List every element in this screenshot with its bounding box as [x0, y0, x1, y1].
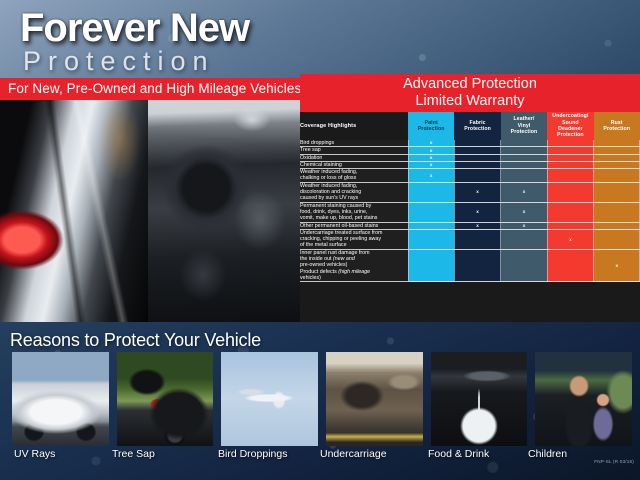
cell-undercoating-sound-deadener-protection: [547, 202, 593, 222]
cell-fabric-protection: x: [454, 222, 500, 229]
cell-paint-protection: x: [408, 147, 454, 154]
row-label: Weather induced fading,discoloration and…: [300, 182, 408, 202]
masthead: Forever New Protection: [0, 0, 640, 78]
cell-undercoating-sound-deadener-protection: [547, 154, 593, 161]
coverage-header-row: Coverage Highlights PaintProtectionFabri…: [300, 112, 640, 140]
cell-rust-protection: x: [594, 249, 640, 281]
cell-fabric-protection: [454, 229, 500, 249]
hero-photo-strip: [0, 100, 300, 322]
cell-fabric-protection: [454, 154, 500, 161]
col-header-undercoating-sound-deadener-protection: Undercoating/SoundDeadenerProtection: [547, 112, 593, 140]
cell-leather-vinyl-protection: [501, 161, 547, 168]
cell-undercoating-sound-deadener-protection: [547, 222, 593, 229]
row-label: Inner panel rust damage fromthe inside o…: [300, 249, 408, 281]
coverage-table: Coverage Highlights PaintProtectionFabri…: [300, 112, 640, 282]
check-mark: x: [430, 156, 433, 161]
row-label: Oxidation: [300, 154, 408, 161]
photo-car-interior: [148, 100, 300, 322]
check-mark: x: [430, 141, 433, 146]
cell-leather-vinyl-protection: [501, 147, 547, 154]
coverage-table-container: Coverage Highlights PaintProtectionFabri…: [300, 112, 640, 322]
cell-leather-vinyl-protection: x: [501, 182, 547, 202]
row-label: Weather induced fading,chalking or loss …: [300, 169, 408, 183]
check-mark: x: [523, 190, 526, 195]
check-mark: x: [430, 149, 433, 154]
row-label: Undercarriage treated surface fromcracki…: [300, 229, 408, 249]
col-header-coverage-highlights: Coverage Highlights: [300, 112, 408, 140]
cell-undercoating-sound-deadener-protection: [547, 140, 593, 147]
cell-leather-vinyl-protection: [501, 154, 547, 161]
col-header-leather-vinyl-protection: Leather/VinylProtection: [501, 112, 547, 140]
cell-undercoating-sound-deadener-protection: [547, 161, 593, 168]
table-row: Other permanent oil-based stains xx x: [300, 222, 640, 229]
cell-paint-protection: x: [408, 154, 454, 161]
check-mark: x: [569, 238, 572, 243]
cell-fabric-protection: x: [454, 182, 500, 202]
tagline-text: For New, Pre-Owned and High Mileage Vehi…: [8, 81, 301, 96]
cell-fabric-protection: [454, 140, 500, 147]
thumb-bird-droppings: [221, 352, 318, 446]
thumb-uv-rays-caption: UV Rays: [14, 448, 55, 460]
brand-subtitle: Protection: [23, 46, 249, 76]
cell-fabric-protection: [454, 147, 500, 154]
cell-undercoating-sound-deadener-protection: [547, 147, 593, 154]
cell-leather-vinyl-protection: [501, 229, 547, 249]
row-label: Tree sap: [300, 147, 408, 154]
cell-leather-vinyl-protection: [501, 140, 547, 147]
cell-undercoating-sound-deadener-protection: [547, 249, 593, 281]
reasons-title: Reasons to Protect Your Vehicle: [10, 330, 261, 351]
cell-paint-protection: [408, 202, 454, 222]
table-row: Weather induced fading,discoloration and…: [300, 182, 640, 202]
table-row: Permanent staining caused byfood, drink,…: [300, 202, 640, 222]
cell-leather-vinyl-protection: x: [501, 222, 547, 229]
reasons-thumbnail-row: [12, 352, 632, 446]
table-row: Tree sapx x: [300, 147, 640, 154]
check-mark: x: [476, 224, 479, 229]
cell-leather-vinyl-protection: [501, 169, 547, 183]
thumb-food-drink: [431, 352, 528, 446]
cell-leather-vinyl-protection: x: [501, 202, 547, 222]
cell-rust-protection: [594, 169, 640, 183]
row-label: Chemical staining: [300, 161, 408, 168]
row-label: Bird droppings: [300, 140, 408, 147]
cell-undercoating-sound-deadener-protection: [547, 182, 593, 202]
cell-paint-protection: [408, 182, 454, 202]
thumb-bird-droppings-caption: Bird Droppings: [218, 448, 287, 460]
col-header-fabric-protection: FabricProtection: [454, 112, 500, 140]
thumb-uv-rays: [12, 352, 109, 446]
warranty-title: Advanced Protection Limited Warranty: [300, 76, 640, 109]
table-row: Chemical stainingx x: [300, 161, 640, 168]
table-row: Bird droppingsx x: [300, 140, 640, 147]
cell-undercoating-sound-deadener-protection: x: [547, 229, 593, 249]
brand-lockup: Forever New Protection: [20, 8, 249, 76]
thumb-undercarriage: [326, 352, 423, 446]
cell-rust-protection: [594, 140, 640, 147]
col-header-rust-protection: RustProtection: [594, 112, 640, 140]
table-row: Weather induced fading,chalking or loss …: [300, 169, 640, 183]
row-label: Other permanent oil-based stains: [300, 222, 408, 229]
cell-leather-vinyl-protection: [501, 249, 547, 281]
check-mark: x: [615, 264, 618, 269]
thumb-food-drink-caption: Food & Drink: [428, 448, 489, 460]
cell-fabric-protection: [454, 169, 500, 183]
check-mark: x: [430, 163, 433, 168]
check-mark: x: [476, 210, 479, 215]
cell-paint-protection: [408, 222, 454, 229]
thumb-tree-sap: [117, 352, 214, 446]
table-row: Inner panel rust damage fromthe inside o…: [300, 249, 640, 281]
cell-rust-protection: [594, 229, 640, 249]
table-row: Oxidationx x: [300, 154, 640, 161]
cell-fabric-protection: x: [454, 202, 500, 222]
cell-paint-protection: x: [408, 140, 454, 147]
thumb-children-caption: Children: [528, 448, 567, 460]
cell-paint-protection: x: [408, 161, 454, 168]
cell-paint-protection: x: [408, 169, 454, 183]
thumb-tree-sap-caption: Tree Sap: [112, 448, 155, 460]
col-header-paint-protection: PaintProtection: [408, 112, 454, 140]
cell-fabric-protection: [454, 249, 500, 281]
cell-rust-protection: [594, 222, 640, 229]
warranty-title-line1: Advanced Protection: [300, 76, 640, 93]
brand-title: Forever New: [20, 8, 249, 48]
cell-undercoating-sound-deadener-protection: [547, 169, 593, 183]
cell-rust-protection: [594, 154, 640, 161]
brochure-page: Forever New Protection For New, Pre-Owne…: [0, 0, 640, 480]
cell-rust-protection: [594, 202, 640, 222]
check-mark: x: [523, 210, 526, 215]
cell-rust-protection: [594, 147, 640, 154]
check-mark: x: [523, 224, 526, 229]
cell-paint-protection: [408, 249, 454, 281]
cell-paint-protection: [408, 229, 454, 249]
cell-fabric-protection: [454, 161, 500, 168]
cell-rust-protection: [594, 182, 640, 202]
check-mark: x: [476, 190, 479, 195]
row-label: Permanent staining caused byfood, drink,…: [300, 202, 408, 222]
cell-rust-protection: [594, 161, 640, 168]
thumb-children: [535, 352, 632, 446]
photo-car-rear-taillight: [0, 100, 148, 322]
table-row: Undercarriage treated surface fromcracki…: [300, 229, 640, 249]
coverage-table-body: Bird droppingsx xTree sapx xOxidationx x…: [300, 140, 640, 282]
coverage-table-head: Coverage Highlights PaintProtectionFabri…: [300, 112, 640, 140]
thumb-undercarriage-caption: Undercarriage: [320, 448, 387, 460]
warranty-title-line2: Limited Warranty: [300, 93, 640, 110]
check-mark: x: [430, 174, 433, 179]
document-code: FNP-SL (R 03/16): [594, 459, 634, 464]
